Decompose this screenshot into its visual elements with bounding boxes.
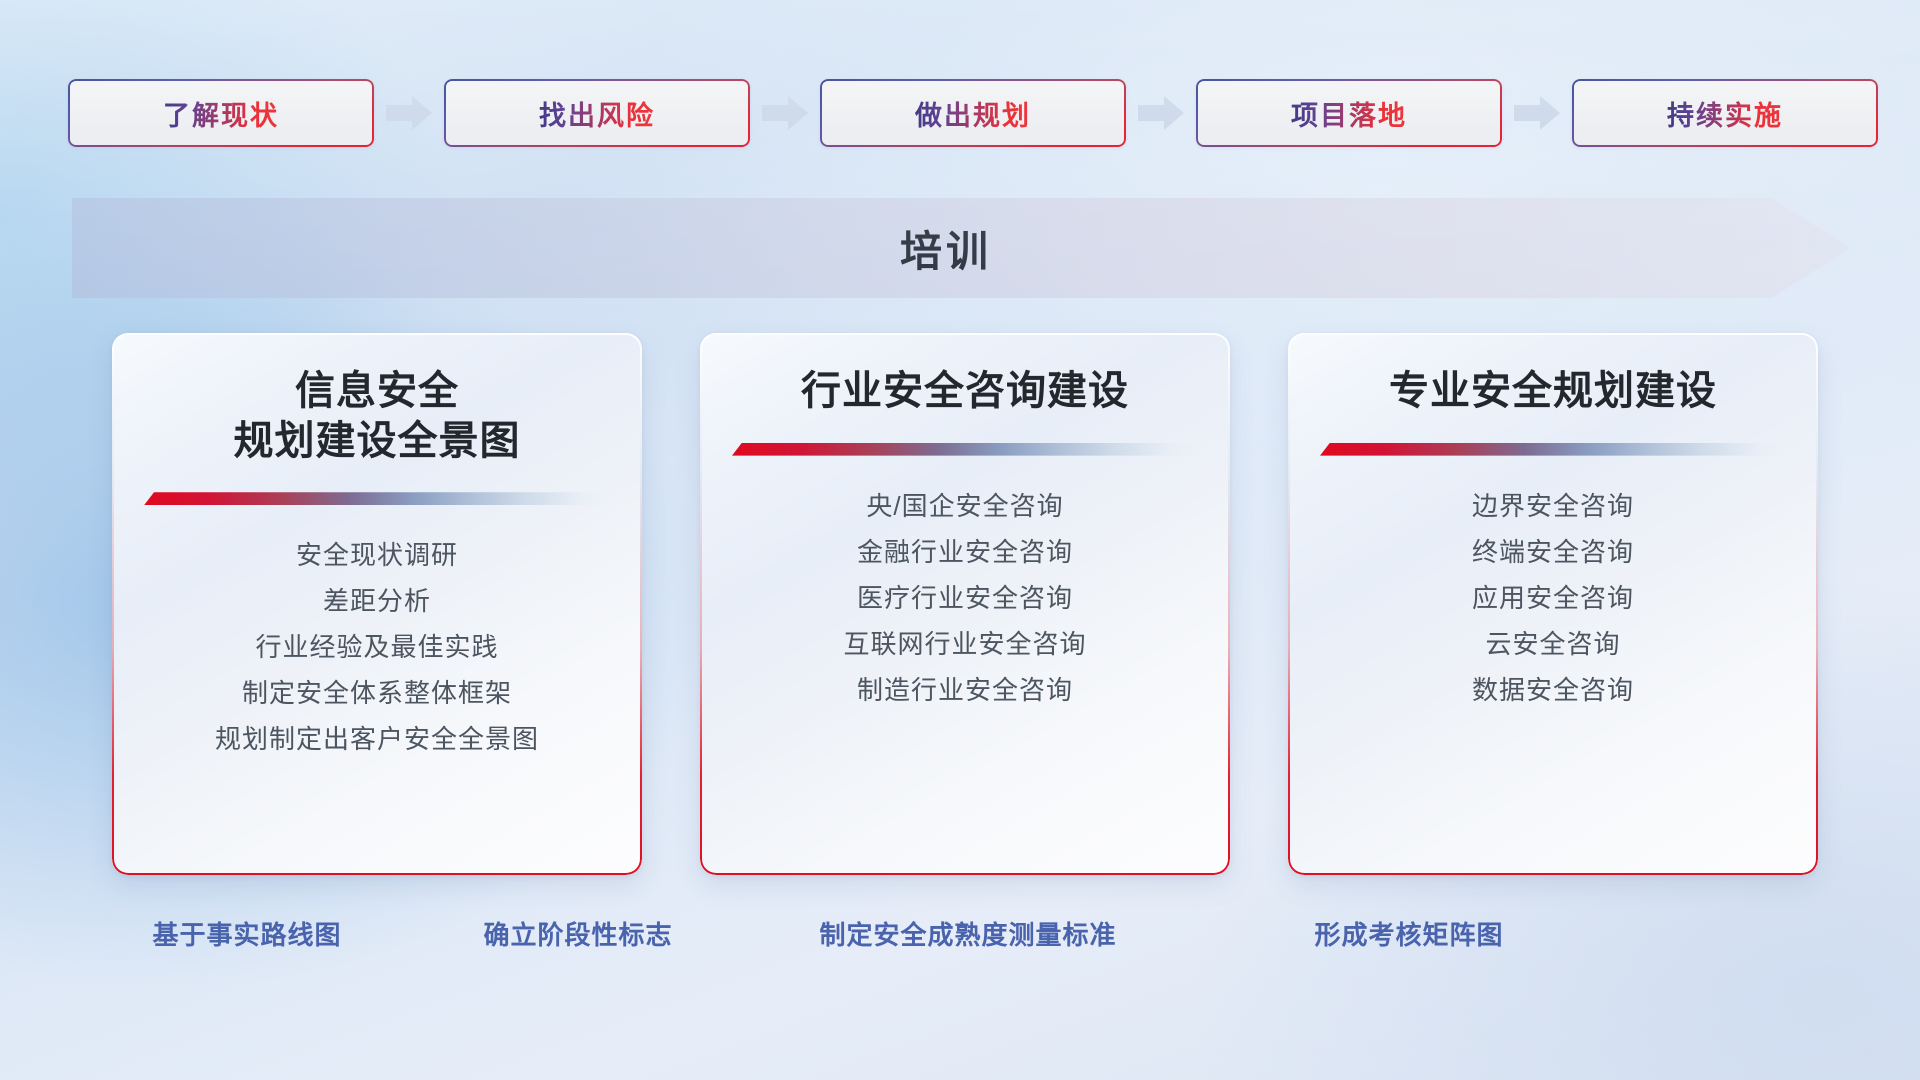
card-divider [144, 492, 610, 506]
list-item: 互联网行业安全咨询 [843, 621, 1086, 667]
step-box-3[interactable]: 做出规划 [820, 79, 1126, 147]
card-industry-consulting[interactable]: 行业安全咨询建设 央/国企安全咨询 金融行业安全咨询 医疗行业安全咨询 互联网行… [700, 333, 1230, 875]
footer-labels: 基于事实路线图 确立阶段性标志 制定安全成熟度测量标准 形成考核矩阵图 [0, 915, 1920, 963]
step-label: 了解现状 [163, 94, 279, 133]
list-item: 终端安全咨询 [1472, 529, 1634, 575]
card-title: 行业安全咨询建设 [726, 367, 1204, 417]
list-item: 医疗行业安全咨询 [857, 575, 1073, 621]
step-box-2[interactable]: 找出风险 [444, 79, 750, 147]
step-box-1[interactable]: 了解现状 [68, 79, 374, 147]
card-list: 央/国企安全咨询 金融行业安全咨询 医疗行业安全咨询 互联网行业安全咨询 制造行… [726, 483, 1204, 713]
list-item: 制造行业安全咨询 [857, 667, 1073, 713]
list-item: 数据安全咨询 [1472, 667, 1634, 713]
list-item: 央/国企安全咨询 [866, 483, 1063, 529]
step-arrow-icon-4 [1502, 93, 1572, 133]
footer-label-maturity: 制定安全成熟度测量标准 [819, 915, 1116, 952]
card-title: 专业安全规划建设 [1314, 367, 1792, 417]
list-item: 边界安全咨询 [1472, 483, 1634, 529]
card-list: 边界安全咨询 终端安全咨询 应用安全咨询 云安全咨询 数据安全咨询 [1314, 483, 1792, 713]
card-divider [1320, 443, 1786, 457]
step-label: 找出风险 [539, 94, 655, 133]
process-step-flow: 了解现状 找出风险 做出规划 项目落地 [68, 78, 1858, 148]
step-label: 做出规划 [915, 94, 1031, 133]
list-item: 云安全咨询 [1485, 621, 1620, 667]
training-banner: 培训 [72, 198, 1850, 298]
step-box-4[interactable]: 项目落地 [1196, 79, 1502, 147]
card-divider [732, 443, 1198, 457]
list-item: 行业经验及最佳实践 [255, 624, 498, 670]
card-group: 信息安全 规划建设全景图 安全现状调研 差距分析 行业经验及最佳实践 制定安全体… [112, 333, 1820, 875]
list-item: 应用安全咨询 [1472, 575, 1634, 621]
slide-root: 了解现状 找出风险 做出规划 项目落地 [0, 0, 1920, 1080]
list-item: 金融行业安全咨询 [857, 529, 1073, 575]
step-arrow-icon-2 [750, 93, 820, 133]
card-panorama[interactable]: 信息安全 规划建设全景图 安全现状调研 差距分析 行业经验及最佳实践 制定安全体… [112, 333, 642, 875]
card-list: 安全现状调研 差距分析 行业经验及最佳实践 制定安全体系整体框架 规划制定出客户… [138, 532, 616, 762]
list-item: 差距分析 [323, 578, 431, 624]
footer-label-matrix: 形成考核矩阵图 [1314, 915, 1503, 952]
banner-title: 培训 [72, 198, 1850, 298]
card-title: 信息安全 规划建设全景图 [138, 367, 616, 466]
step-arrow-icon-1 [374, 93, 444, 133]
card-professional-planning[interactable]: 专业安全规划建设 边界安全咨询 终端安全咨询 应用安全咨询 云安全咨询 数据安全… [1288, 333, 1818, 875]
step-label: 持续实施 [1667, 94, 1783, 133]
list-item: 规划制定出客户安全全景图 [215, 716, 539, 762]
list-item: 安全现状调研 [296, 532, 458, 578]
step-arrow-icon-3 [1126, 93, 1196, 133]
footer-label-milestone: 确立阶段性标志 [483, 915, 672, 952]
list-item: 制定安全体系整体框架 [242, 670, 512, 716]
step-label: 项目落地 [1291, 94, 1407, 133]
footer-label-roadmap: 基于事实路线图 [152, 915, 341, 952]
step-box-5[interactable]: 持续实施 [1572, 79, 1878, 147]
